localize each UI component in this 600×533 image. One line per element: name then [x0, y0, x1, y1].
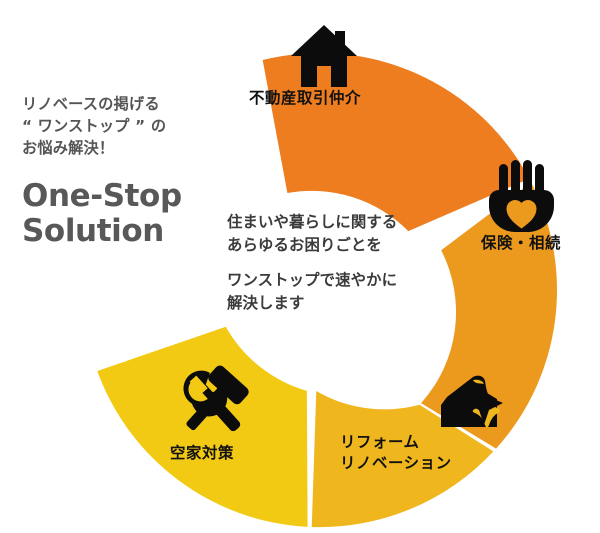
lead-line-1: リノベースの掲げる — [22, 93, 222, 115]
segment-label-reform[interactable]: リフォーム リノベーション — [340, 432, 452, 474]
center-copy-block: 住まいや暮らしに関する あらゆるお困りごとを ワンストップで速やかに 解決します — [227, 211, 457, 316]
headline-line-1: One-Stop — [22, 179, 222, 214]
segment-label-reform-line-2: リノベーション — [340, 453, 452, 474]
center-line-2: あらゆるお困りごとを — [227, 234, 457, 257]
left-headline-block: リノベースの掲げる “ ワンストップ ” の お悩み解決！ One-Stop S… — [22, 93, 222, 249]
segment-label-fudosan[interactable]: 不動産取引仲介 — [249, 88, 361, 109]
page-title: One-Stop Solution — [22, 179, 222, 248]
lead-line-2: “ ワンストップ ” の — [22, 115, 222, 137]
center-copy-spacer — [227, 258, 457, 269]
center-line-4: 解決します — [227, 292, 457, 315]
center-line-1: 住まいや暮らしに関する — [227, 211, 457, 234]
segment-label-hoken[interactable]: 保険・相続 — [481, 233, 561, 254]
segment-label-akiya[interactable]: 空家対策 — [170, 443, 234, 464]
segment-label-reform-line-1: リフォーム — [340, 432, 452, 453]
center-line-3: ワンストップで速やかに — [227, 269, 457, 292]
segment-akiya[interactable] — [97, 327, 307, 527]
headline-line-2: Solution — [22, 214, 222, 249]
infographic-canvas: リノベースの掲げる “ ワンストップ ” の お悩み解決！ One-Stop S… — [0, 0, 600, 533]
lead-line-3: お悩み解決！ — [22, 137, 222, 159]
